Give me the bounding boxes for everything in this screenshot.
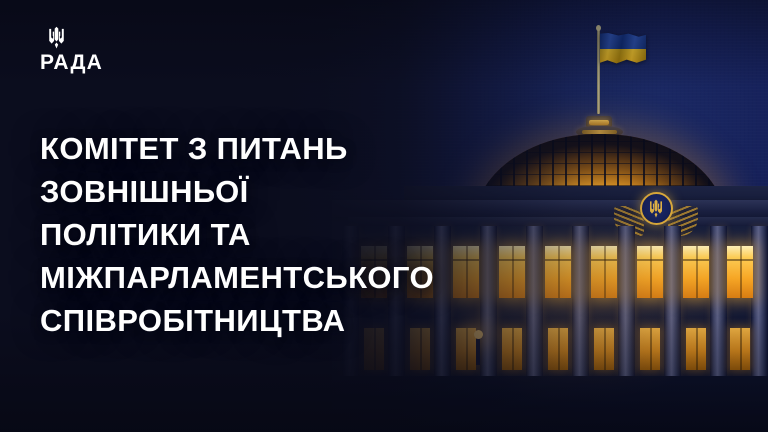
title-line-3: ПОЛІТИКИ ТА bbox=[40, 213, 640, 256]
title-line-1: КОМІТЕТ З ПИТАНЬ bbox=[40, 127, 640, 170]
title-line-4: МІЖПАРЛАМЕНТСЬКОГО bbox=[40, 256, 640, 299]
page-title: КОМІТЕТ З ПИТАНЬ ЗОВНІШНЬОЇ ПОЛІТИКИ ТА … bbox=[40, 127, 640, 342]
banner-canvas: РАДА КОМІТЕТ З ПИТАНЬ ЗОВНІШНЬОЇ ПОЛІТИК… bbox=[0, 0, 768, 432]
rada-wordmark: РАДА bbox=[40, 52, 103, 73]
rada-logo[interactable]: РАДА bbox=[40, 26, 103, 73]
ukrainian-trident-icon bbox=[47, 26, 66, 49]
title-line-2: ЗОВНІШНЬОЇ bbox=[40, 170, 640, 213]
title-line-5: СПІВРОБІТНИЦТВА bbox=[40, 299, 640, 342]
